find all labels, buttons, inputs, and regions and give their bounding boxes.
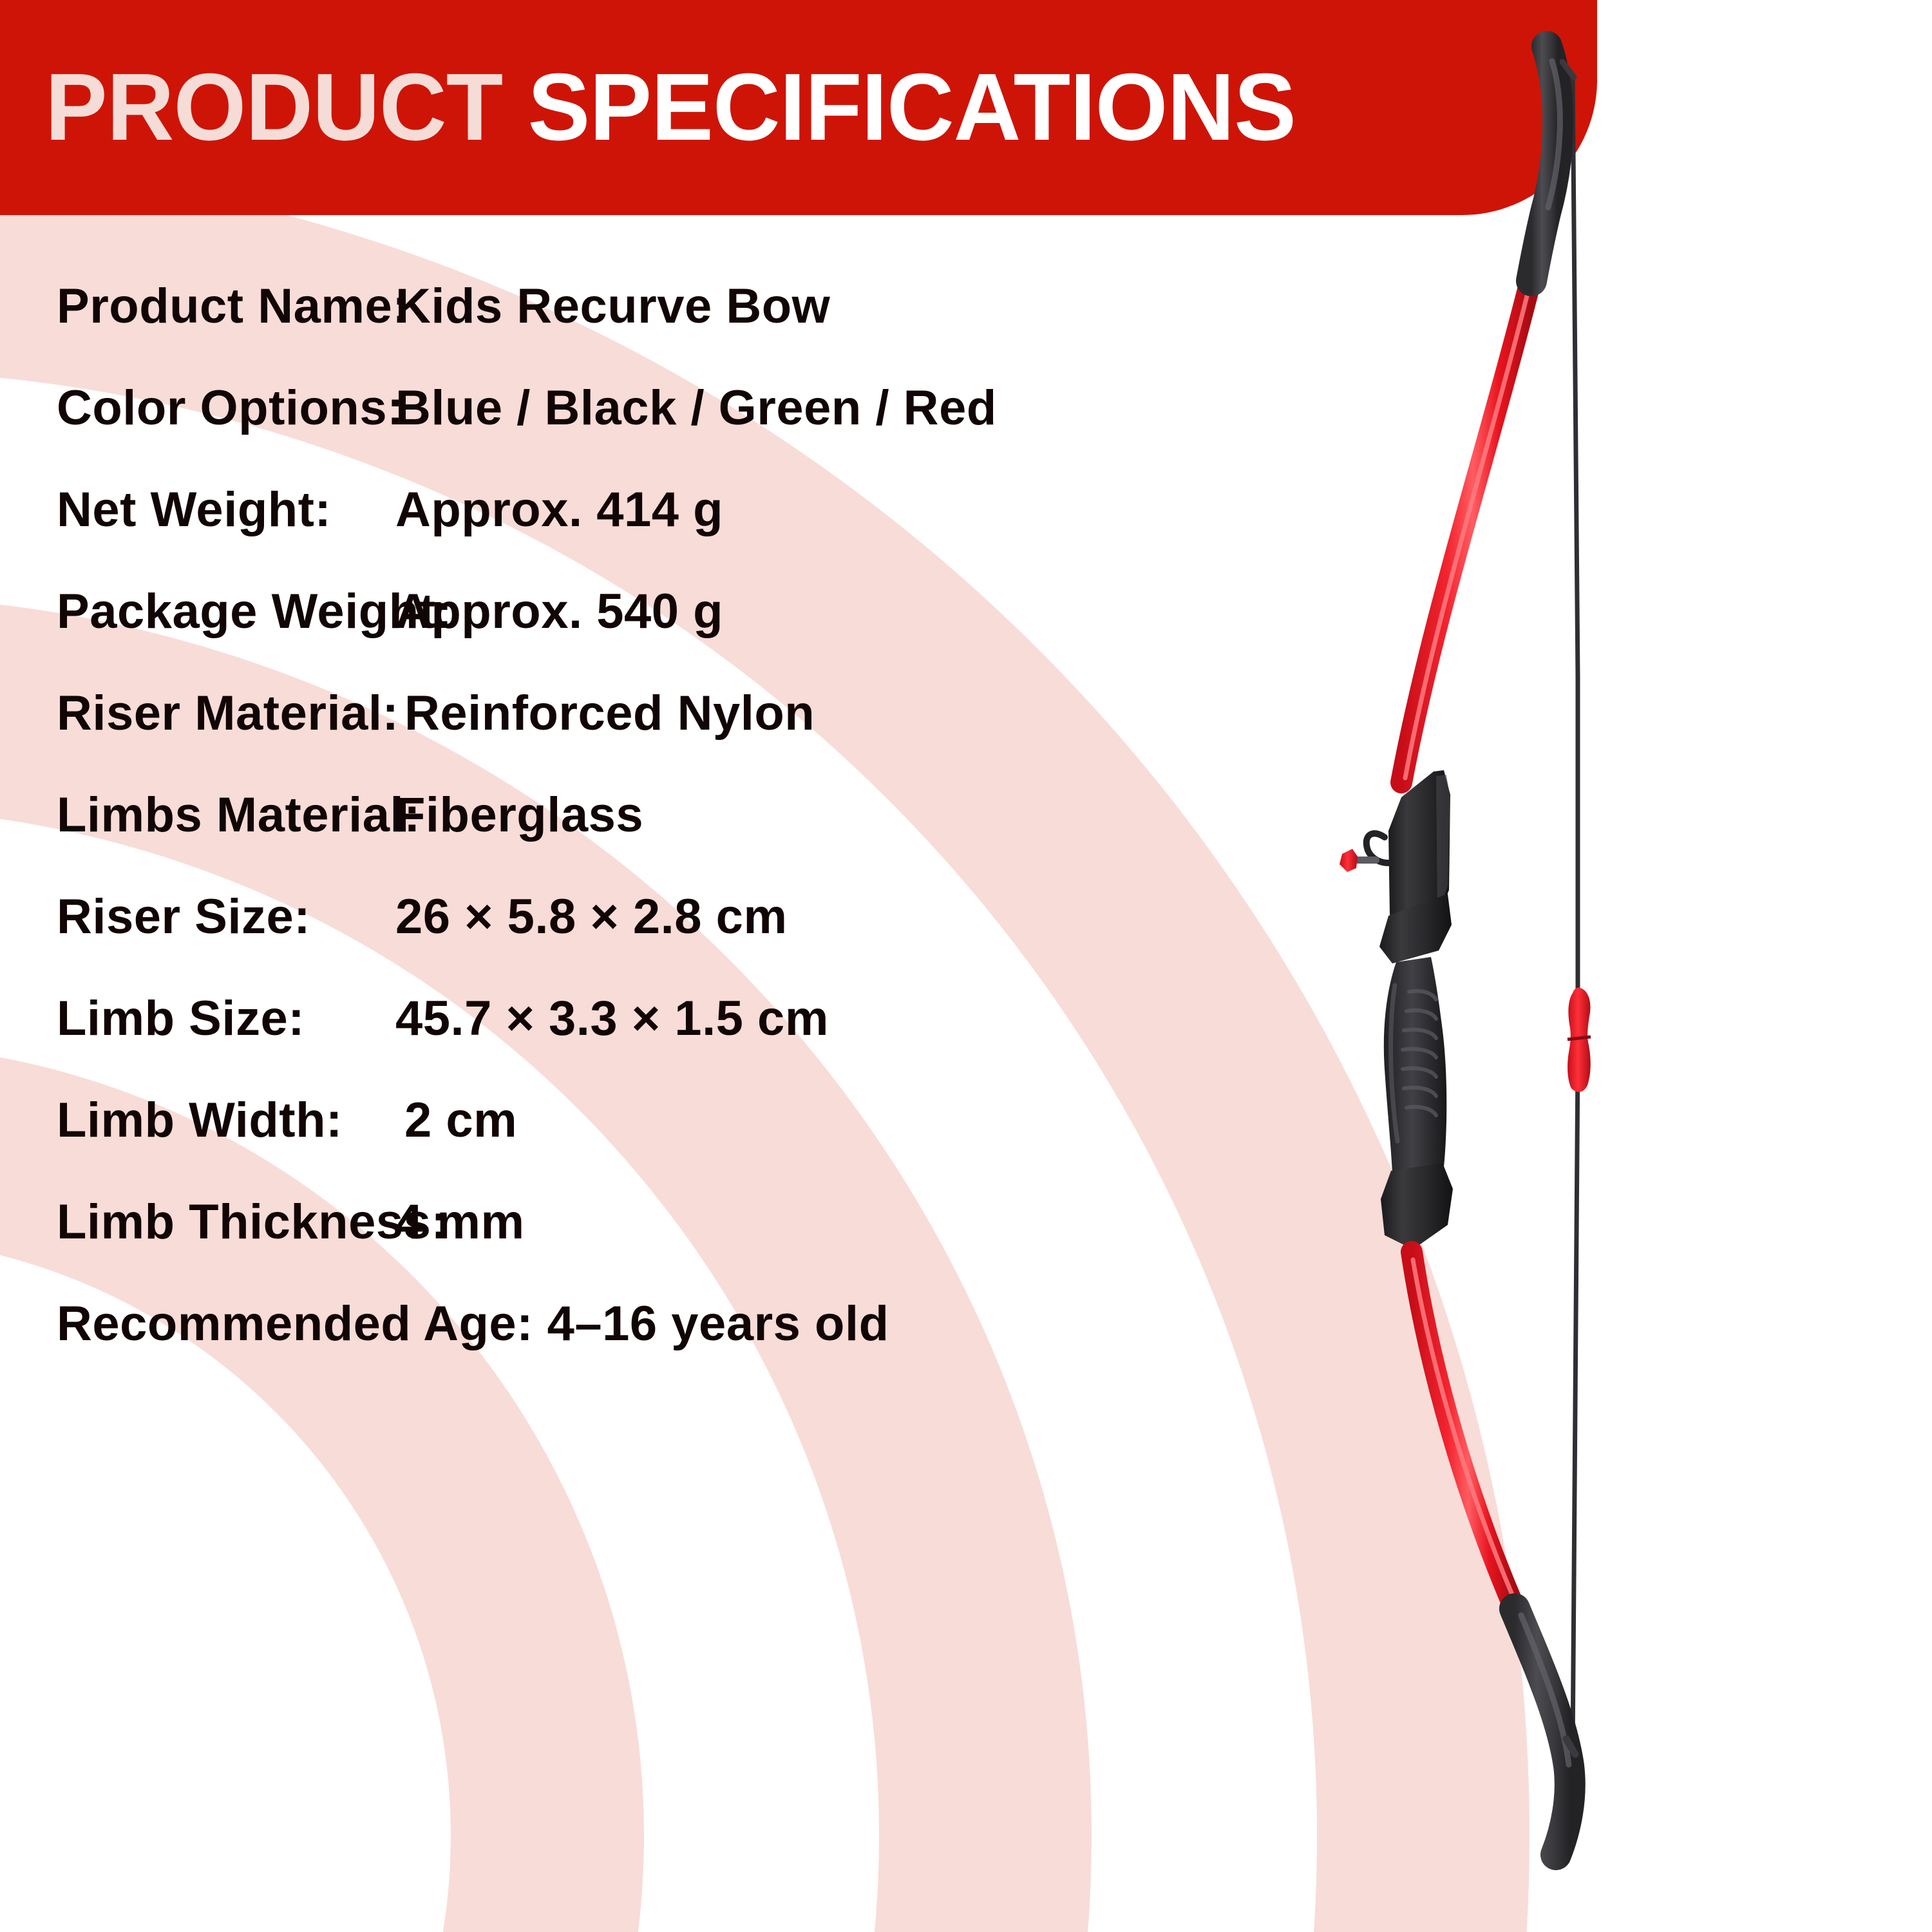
spec-label-package-weight: Package Weight: [57, 587, 379, 636]
lower-limb-tip-highlight [1521, 1615, 1569, 1765]
lower-limb [1412, 1252, 1515, 1609]
spec-label-product-name: Product Name: [57, 282, 379, 331]
string-nocking-point [1567, 988, 1591, 1092]
spec-value-limb-thickness: 4 mm [379, 1198, 1340, 1247]
product-image-recurve-bow [1275, 0, 1932, 1932]
spec-value-riser-material: Reinforced Nylon [379, 689, 1340, 738]
spec-row-riser-size: Riser Size: 26 × 5.8 × 2.8 cm [0, 893, 1340, 994]
riser-upper-block-bevel [1436, 775, 1450, 914]
spec-label-limb-size: Limb Size: [57, 994, 379, 1043]
riser-grip [1384, 957, 1446, 1186]
spec-value-limb-width: 2 cm [379, 1096, 1340, 1145]
spec-label-riser-material: Riser Material: [57, 689, 379, 738]
spec-value-limb-size: 45.7 × 3.3 × 1.5 cm [379, 994, 1340, 1043]
spec-row-net-weight: Net Weight: Approx. 414 g [0, 486, 1340, 587]
lower-limb-tip [1515, 1609, 1570, 1855]
spec-label-limb-width: Limb Width: [57, 1096, 379, 1145]
lower-string-nock [1566, 1739, 1575, 1754]
spec-row-riser-material: Riser Material: Reinforced Nylon [0, 689, 1340, 791]
spec-row-limbs-material: Limbs Material: Fiberglass [0, 791, 1340, 893]
spec-row-limb-size: Limb Size: 45.7 × 3.3 × 1.5 cm [0, 994, 1340, 1096]
header-banner: PRODUCT SPECIFICATIONS [0, 0, 1597, 215]
spec-row-product-name: Product Name: Kids Recurve Bow [0, 282, 1340, 384]
spec-row-limb-width: Limb Width: 2 cm [0, 1096, 1340, 1198]
spec-row-limb-thickness: Limb Thickness: 4 mm [0, 1198, 1340, 1300]
spec-value-package-weight: Approx. 540 g [379, 587, 1340, 636]
spec-value-recommended-age: Recommended Age: 4–16 years old [57, 1300, 889, 1349]
spec-label-net-weight: Net Weight: [57, 486, 379, 535]
riser-upper-block [1388, 770, 1450, 935]
spec-label-limbs-material: Limbs Material: [57, 791, 379, 840]
string-nocking-point-seam [1567, 1037, 1591, 1039]
spec-row-color-options: Color Options: Blue / Black / Green / Re… [0, 384, 1340, 486]
spec-value-color-options: Blue / Black / Green / Red [379, 384, 1340, 433]
spec-value-limbs-material: Fiberglass [379, 791, 1340, 840]
spec-value-net-weight: Approx. 414 g [379, 486, 1340, 535]
upper-limb-highlight [1405, 283, 1530, 778]
spec-label-limb-thickness: Limb Thickness: [57, 1198, 379, 1247]
page-title: PRODUCT SPECIFICATIONS [45, 60, 1296, 155]
riser-grip-ridges [1403, 991, 1436, 1115]
page-title-word-specifications: SPECIFICATIONS [528, 54, 1296, 160]
arrow-rest-pin [1351, 857, 1379, 864]
riser-grip-thumb-groove [1391, 985, 1397, 1141]
riser-lower-block [1381, 1163, 1453, 1249]
spec-label-riser-size: Riser Size: [57, 893, 379, 942]
upper-limb [1401, 277, 1531, 782]
lower-limb-highlight [1413, 1260, 1516, 1604]
spec-row-recommended-age: Recommended Age: 4–16 years old [0, 1300, 1340, 1396]
riser-shelf [1379, 894, 1452, 963]
spec-label-color-options: Color Options: [57, 384, 379, 433]
product-specifications-infographic: PRODUCT SPECIFICATIONS Product Name: Kid… [0, 0, 1932, 1932]
arrow-rest-red-tip [1340, 849, 1358, 872]
spec-value-product-name: Kids Recurve Bow [379, 282, 1340, 331]
spec-row-package-weight: Package Weight: Approx. 540 g [0, 587, 1340, 689]
spec-value-riser-size: 26 × 5.8 × 2.8 cm [379, 893, 1340, 942]
bowstring [1573, 76, 1578, 1752]
page-title-word-product: PRODUCT [45, 54, 502, 160]
arrow-rest-bracket [1367, 833, 1388, 863]
specification-list: Product Name: Kids Recurve Bow Color Opt… [0, 215, 1340, 1932]
